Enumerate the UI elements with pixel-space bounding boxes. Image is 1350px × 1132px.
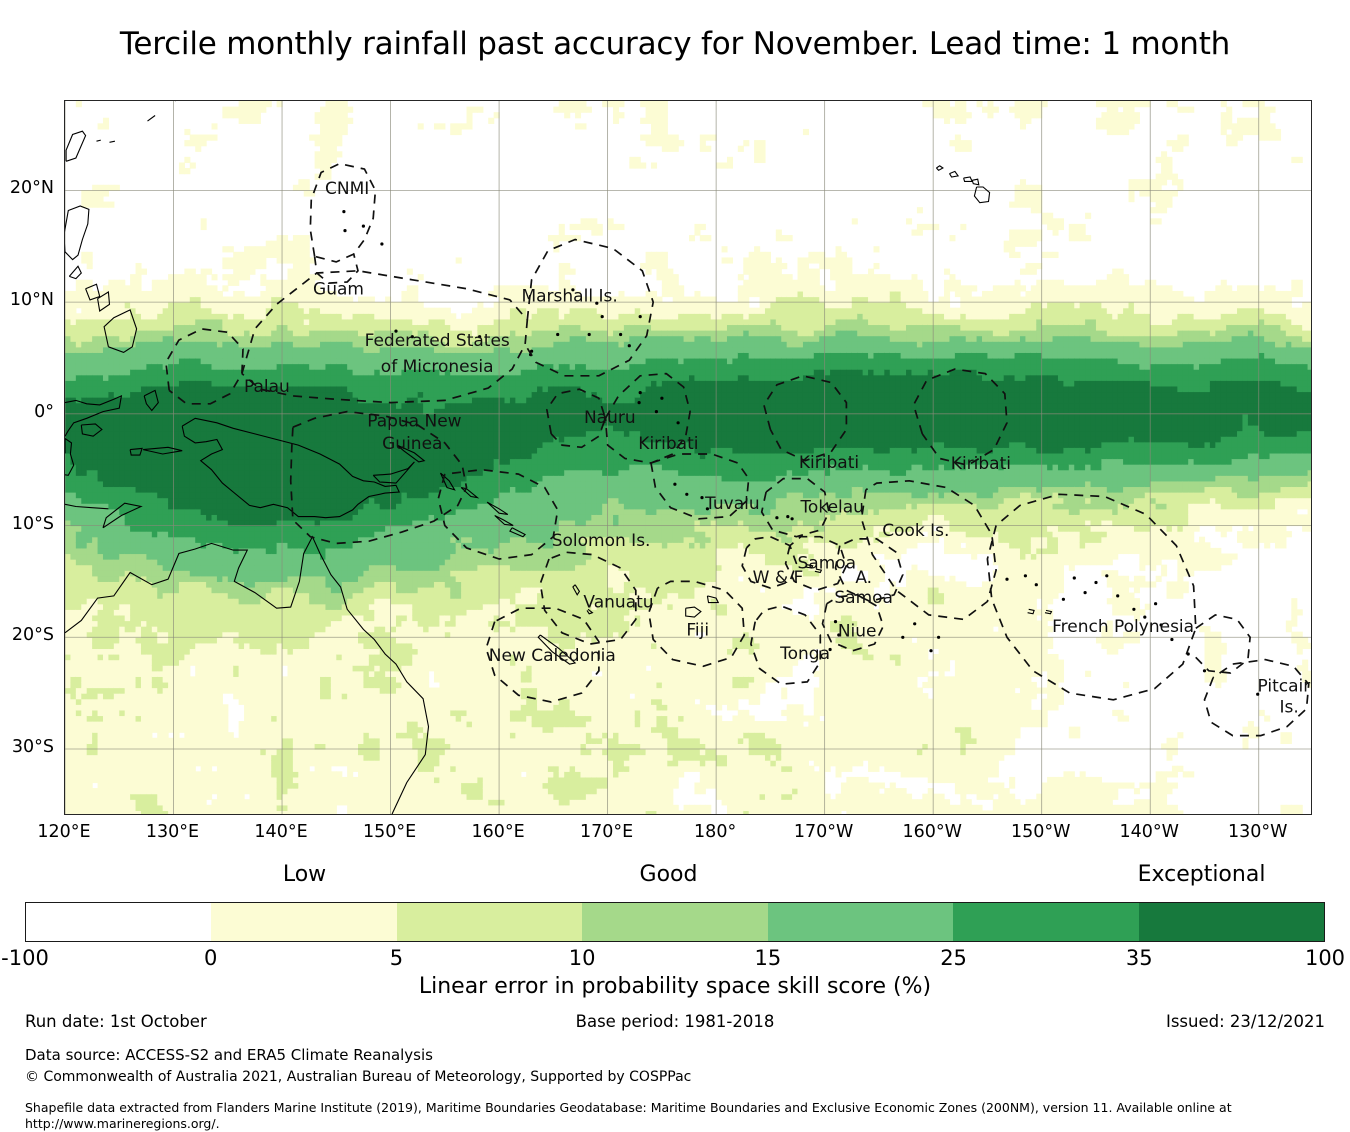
y-tick-20°N: 20°N — [10, 178, 54, 198]
colorbar-quality-low: Low — [283, 862, 326, 887]
colorbar-tick-10: 10 — [569, 946, 596, 970]
colorbar-segment-6 — [1139, 903, 1324, 941]
map-container: CNMIGuamMarshall Is.Federated Statesof M… — [64, 100, 1312, 815]
map-label-is: Is. — [1279, 698, 1298, 718]
footer: Run date: 1st October Base period: 1981-… — [0, 1012, 1350, 1039]
colorbar-segment-0 — [26, 903, 211, 941]
shapefile-line-2: http://www.marineregions.org/. — [25, 1116, 220, 1131]
issued-date: Issued: 23/12/2021 — [1166, 1012, 1325, 1031]
map-svg: CNMIGuamMarshall Is.Federated Statesof M… — [65, 101, 1312, 815]
shapefile-line-1: Shapefile data extracted from Flanders M… — [25, 1100, 1232, 1115]
x-tick-140°W: 140°W — [1119, 822, 1178, 842]
colorbar-tick-15: 15 — [754, 946, 781, 970]
skill-score-raster — [65, 101, 1312, 815]
x-tick-150°E: 150°E — [363, 822, 416, 842]
map-label-federated-states: Federated States — [365, 331, 510, 351]
colorbar-segment-3 — [582, 903, 767, 941]
map-label-cook-is: Cook Is. — [882, 521, 949, 541]
x-tick-150°W: 150°W — [1011, 822, 1070, 842]
map-label-samoa: Samoa — [834, 588, 893, 608]
run-date: Run date: 1st October — [25, 1012, 207, 1031]
colorbar-quality-good: Good — [640, 862, 698, 887]
map-label-kiribati: Kiribati — [951, 454, 1011, 474]
map-label-nauru: Nauru — [584, 408, 636, 428]
x-tick-130°W: 130°W — [1228, 822, 1287, 842]
x-tick-170°E: 170°E — [580, 822, 633, 842]
map-label-pitcairn: Pitcairn — [1257, 676, 1312, 696]
colorbar-title: Linear error in probability space skill … — [25, 974, 1325, 999]
x-tick-130°E: 130°E — [146, 822, 199, 842]
map-label-palau: Palau — [244, 377, 290, 397]
map-frame: CNMIGuamMarshall Is.Federated Statesof M… — [64, 100, 1312, 815]
map-label-samoa: Samoa — [798, 553, 857, 573]
map-label-guam: Guam — [313, 280, 364, 300]
base-period: Base period: 1981-2018 — [576, 1012, 775, 1031]
colorbar-tick-0: 0 — [204, 946, 217, 970]
map-label-french-polynesia: French Polynesia — [1052, 617, 1194, 637]
map-label-new-caledonia: New Caledonia — [489, 646, 616, 666]
map-label-solomon-is: Solomon Is. — [552, 531, 651, 551]
x-tick-160°E: 160°E — [471, 822, 524, 842]
x-tick-180°: 180° — [694, 822, 736, 842]
colorbar-quality-exceptional: Exceptional — [1138, 862, 1266, 887]
map-label-niue: Niue — [838, 622, 877, 642]
map-label-kiribati: Kiribati — [799, 453, 859, 473]
x-tick-140°E: 140°E — [254, 822, 307, 842]
y-tick-20°S: 20°S — [12, 625, 54, 645]
y-tick-0°: 0° — [34, 402, 54, 422]
colorbar-segment-4 — [768, 903, 953, 941]
colorbar-tick-100: 100 — [1305, 946, 1345, 970]
data-source: Data source: ACCESS-S2 and ERA5 Climate … — [25, 1046, 433, 1064]
colorbar-segment-2 — [397, 903, 582, 941]
x-tick-160°W: 160°W — [902, 822, 961, 842]
shapefile-attribution: Shapefile data extracted from Flanders M… — [25, 1100, 1232, 1132]
x-tick-120°E: 120°E — [37, 822, 90, 842]
colorbar-tick-25: 25 — [940, 946, 967, 970]
copyright: © Commonwealth of Australia 2021, Austra… — [25, 1069, 691, 1085]
map-label-cnmi: CNMI — [325, 179, 369, 199]
y-tick-10°S: 10°S — [12, 514, 54, 534]
map-label-of-micronesia: of Micronesia — [381, 357, 494, 377]
map-label-kiribati: Kiribati — [638, 434, 698, 454]
y-tick-30°S: 30°S — [12, 737, 54, 757]
map-label-guinea: Guinea — [382, 434, 442, 454]
map-label-tuvalu: Tuvalu — [704, 494, 760, 514]
page-title: Tercile monthly rainfall past accuracy f… — [0, 26, 1350, 62]
colorbar-segment-1 — [211, 903, 396, 941]
colorbar-segment-5 — [953, 903, 1138, 941]
x-tick-170°W: 170°W — [794, 822, 853, 842]
colorbar — [25, 902, 1325, 942]
map-label-papua-new: Papua New — [367, 412, 461, 432]
map-label-tokelau: Tokelau — [799, 498, 864, 518]
map-label-marshall-is: Marshall Is. — [521, 286, 617, 306]
map-label-w-f: W & F — [753, 568, 804, 588]
map-label-tonga: Tonga — [779, 644, 830, 664]
map-label-fiji: Fiji — [686, 620, 709, 640]
colorbar-tick--100: -100 — [1, 946, 49, 970]
map-label-a: A. — [855, 568, 872, 588]
map-label-vanuatu: Vanuatu — [583, 593, 653, 613]
colorbar-tick-5: 5 — [390, 946, 403, 970]
y-tick-10°N: 10°N — [10, 290, 54, 310]
colorbar-tick-35: 35 — [1126, 946, 1153, 970]
